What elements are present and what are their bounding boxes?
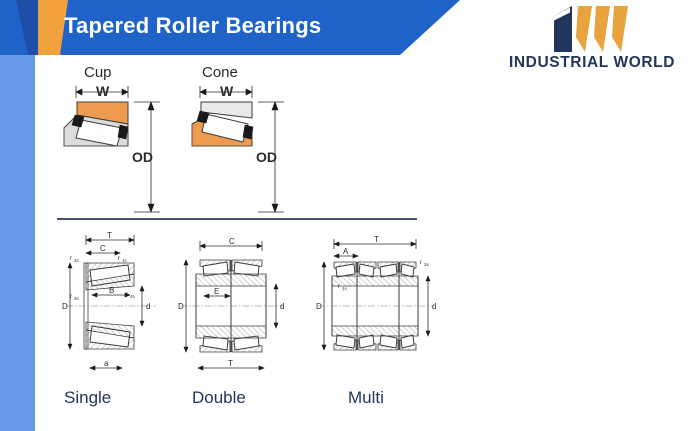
brand-name: INDUSTRIAL WORLD <box>492 54 692 72</box>
svg-text:d: d <box>432 302 436 311</box>
svg-text:d: d <box>146 302 150 311</box>
svg-text:2s: 2s <box>74 258 79 263</box>
svg-text:2s: 2s <box>424 262 429 267</box>
svg-text:D: D <box>316 302 322 311</box>
svg-text:r: r <box>420 260 422 266</box>
single-figure: T C r 2s r 1s r 3s r 4s <box>56 230 171 380</box>
svg-text:3s: 3s <box>74 296 79 301</box>
svg-text:4s: 4s <box>130 294 135 299</box>
svg-text:D: D <box>62 302 68 311</box>
svg-text:OD: OD <box>132 149 153 165</box>
cup-caption: Cup <box>84 64 112 81</box>
single-caption: Single <box>64 388 111 408</box>
svg-text:1s: 1s <box>342 286 347 291</box>
svg-text:C: C <box>229 237 235 246</box>
cup-figure: W OD <box>56 84 176 219</box>
double-figure: C E <box>172 230 294 380</box>
svg-text:T: T <box>374 235 379 244</box>
svg-text:T: T <box>228 359 233 368</box>
slide-root: Tapered Roller Bearings INDUSTRIAL WORLD… <box>0 0 700 431</box>
page-title: Tapered Roller Bearings <box>64 13 321 39</box>
double-caption: Double <box>192 388 246 408</box>
svg-text:T: T <box>107 231 112 240</box>
svg-text:W: W <box>96 83 110 99</box>
multi-figure: T A r 2s r 1s <box>312 230 440 380</box>
cone-caption: Cone <box>202 64 238 81</box>
svg-text:D: D <box>178 302 184 311</box>
svg-text:1s: 1s <box>122 258 127 263</box>
logo-iw-icon <box>546 4 638 52</box>
multi-caption: Multi <box>348 388 384 408</box>
svg-text:d: d <box>280 302 284 311</box>
brand-logo: INDUSTRIAL WORLD <box>492 4 692 82</box>
svg-text:B: B <box>109 286 114 295</box>
left-accent-rail <box>0 55 35 431</box>
section-divider <box>57 218 417 220</box>
svg-text:r: r <box>70 256 72 262</box>
cone-figure: W OD <box>180 84 300 219</box>
svg-text:OD: OD <box>256 149 277 165</box>
svg-text:r: r <box>118 256 120 262</box>
svg-text:W: W <box>220 83 234 99</box>
svg-text:C: C <box>100 244 106 253</box>
svg-text:A: A <box>343 247 349 256</box>
svg-text:a: a <box>104 359 109 368</box>
svg-text:E: E <box>214 287 219 296</box>
